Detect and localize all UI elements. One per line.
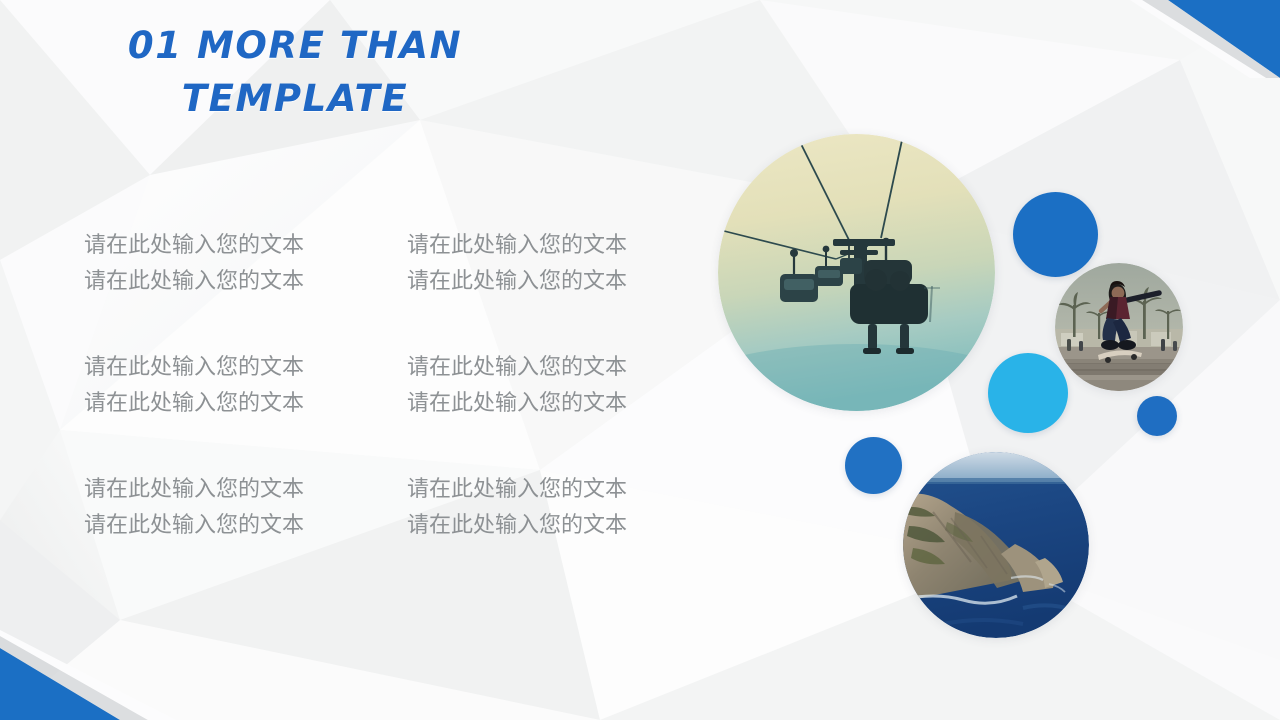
text-block[interactable]: 请在此处输入您的文本 请在此处输入您的文本 — [84, 350, 407, 472]
slide-title: 01 MORE THAN TEMPLATE — [60, 20, 530, 125]
skateboarder-photo[interactable] — [1055, 263, 1183, 391]
text-line: 请在此处输入您的文本 — [84, 350, 407, 386]
decor-circle-cyan — [988, 353, 1068, 433]
text-block[interactable]: 请在此处输入您的文本 请在此处输入您的文本 — [407, 350, 684, 472]
presentation-slide: 01 MORE THAN TEMPLATE 请在此处输入您的文本 请在此处输入您… — [0, 0, 1280, 720]
decor-circle-blue-top — [1013, 192, 1098, 277]
text-line: 请在此处输入您的文本 — [407, 386, 684, 422]
text-line: 请在此处输入您的文本 — [407, 264, 684, 300]
ski-lift-gondola-image — [718, 134, 995, 411]
text-line: 请在此处输入您的文本 — [84, 228, 407, 264]
ski-lift-gondola-photo[interactable] — [718, 134, 995, 411]
text-line: 请在此处输入您的文本 — [407, 508, 684, 544]
corner-accent-bottom-left — [0, 630, 190, 720]
text-line: 请在此处输入您的文本 — [84, 508, 407, 544]
text-line: 请在此处输入您的文本 — [407, 472, 684, 508]
text-block[interactable]: 请在此处输入您的文本 请在此处输入您的文本 — [84, 228, 407, 350]
text-line: 请在此处输入您的文本 — [84, 472, 407, 508]
text-line: 请在此处输入您的文本 — [84, 386, 407, 422]
text-block[interactable]: 请在此处输入您的文本 请在此处输入您的文本 — [84, 472, 407, 594]
slide-title-line-2: TEMPLATE — [182, 77, 408, 120]
slide-title-line-1: 01 MORE THAN — [128, 24, 462, 67]
coastal-cliff-sea-photo[interactable] — [903, 452, 1089, 638]
decor-circle-blue-left — [845, 437, 902, 494]
text-line: 请在此处输入您的文本 — [407, 350, 684, 386]
skateboarder-image — [1055, 263, 1183, 391]
placeholder-text-grid: 请在此处输入您的文本 请在此处输入您的文本 请在此处输入您的文本 请在此处输入您… — [84, 228, 684, 594]
text-block[interactable]: 请在此处输入您的文本 请在此处输入您的文本 — [407, 472, 684, 594]
corner-accent-top-right — [1090, 0, 1280, 78]
decor-circle-blue-small — [1137, 396, 1177, 436]
text-block[interactable]: 请在此处输入您的文本 请在此处输入您的文本 — [407, 228, 684, 350]
coastal-cliff-sea-image — [903, 452, 1089, 638]
text-line: 请在此处输入您的文本 — [407, 228, 684, 264]
text-line: 请在此处输入您的文本 — [84, 264, 407, 300]
